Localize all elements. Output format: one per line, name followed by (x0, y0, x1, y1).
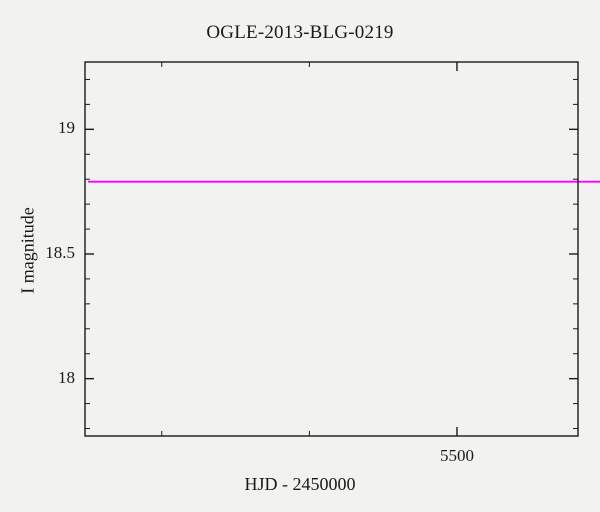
light-curve-figure: OGLE-2013-BLG-0219 HJD - 2450000 I magni… (0, 0, 600, 512)
model-curve (88, 182, 600, 492)
y-tick-label: 18 (15, 368, 75, 388)
plot-area (0, 0, 600, 512)
x-tick-label: 5500 (417, 446, 497, 466)
y-tick-label: 19 (15, 118, 75, 138)
axes-frame (85, 62, 578, 436)
y-tick-label: 18.5 (15, 243, 75, 263)
